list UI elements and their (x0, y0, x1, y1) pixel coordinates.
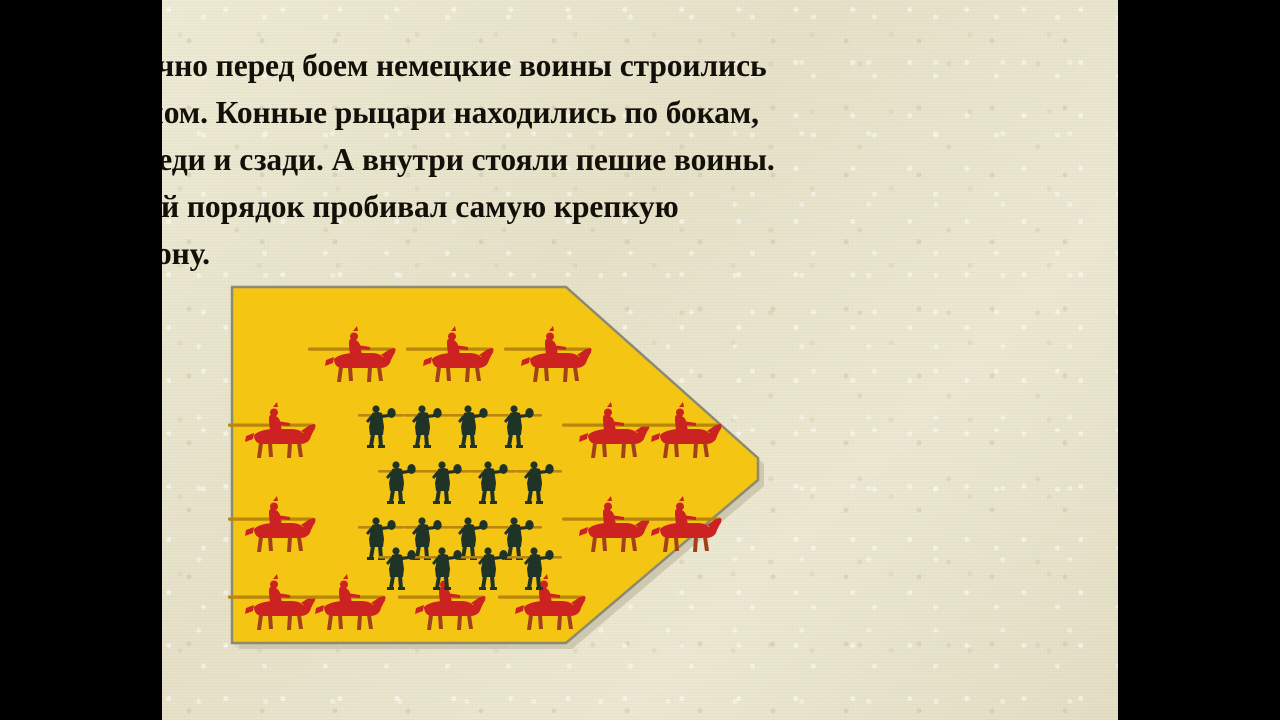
caption-text-block: Обычно перед боем немецкие воины строили… (92, 42, 922, 277)
caption-line-5: оборону. (92, 230, 922, 277)
letterbox-bar-left (0, 0, 162, 720)
caption-line-1: Обычно перед боем немецкие воины строили… (92, 42, 922, 89)
caption-line-4: Такой порядок пробивал самую крепкую (92, 183, 922, 230)
wedge-formation-diagram: .lance { fill: #b8860b; } .cav-body { fi… (226, 281, 770, 659)
caption-line-2: клином. Конные рыцари находились по бока… (92, 89, 922, 136)
slide-root: Обычно перед боем немецкие воины строили… (0, 0, 1280, 720)
caption-line-3: впереди и сзади. А внутри стояли пешие в… (92, 136, 922, 183)
letterbox-bar-right (1118, 0, 1280, 720)
